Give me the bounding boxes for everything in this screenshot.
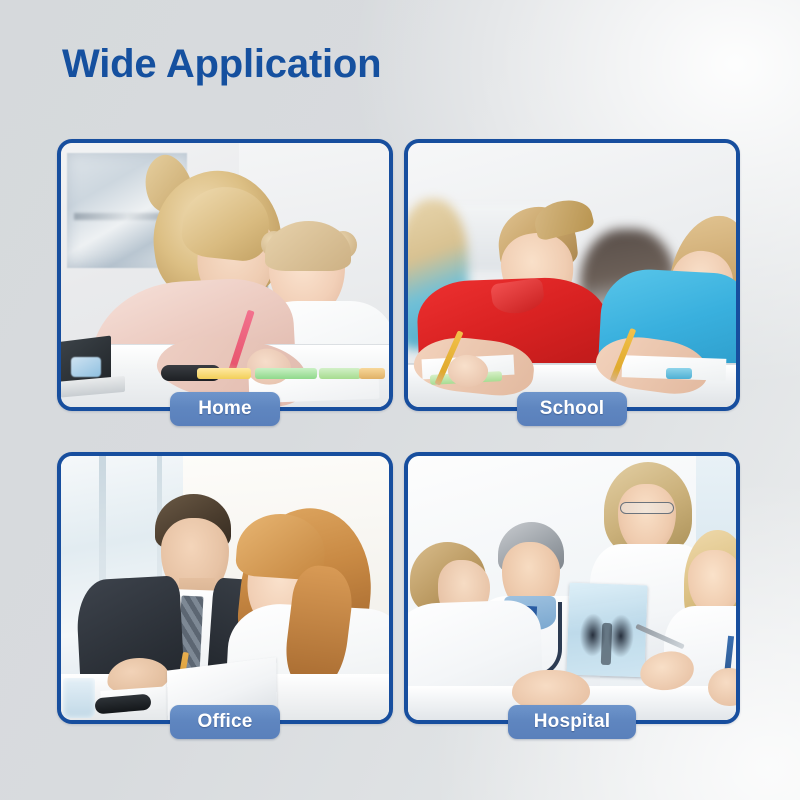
application-card-school[interactable]: School (404, 139, 740, 411)
card-image-clip-hospital (408, 456, 736, 720)
school-eraser (666, 368, 692, 379)
photo-office (61, 456, 389, 720)
card-label-hospital[interactable]: Hospital (508, 705, 636, 739)
home-tissue-box (71, 357, 101, 377)
photo-hospital (408, 456, 736, 720)
office-water-glass (63, 678, 95, 718)
photo-home (61, 143, 389, 407)
card-label-office[interactable]: Office (170, 705, 280, 739)
hospital-standing-doctor-glasses (620, 502, 674, 514)
home-marker-yellow (197, 368, 251, 379)
application-card-office[interactable]: Office (57, 452, 393, 724)
application-cards-grid: Home (0, 0, 800, 800)
application-card-home[interactable]: Home (57, 139, 393, 411)
card-image-clip-school (408, 143, 736, 407)
photo-school (408, 143, 736, 407)
card-image-clip-home (61, 143, 389, 407)
home-marker-lightgreen (319, 368, 361, 379)
home-marker-orange (359, 368, 385, 379)
home-marker-set (197, 368, 385, 379)
card-label-school[interactable]: School (517, 392, 627, 426)
card-label-home[interactable]: Home (170, 392, 280, 426)
application-card-hospital[interactable]: Hospital (404, 452, 740, 724)
home-marker-green (255, 368, 317, 379)
card-image-clip-office (61, 456, 389, 720)
chest-xray-film (566, 583, 647, 678)
